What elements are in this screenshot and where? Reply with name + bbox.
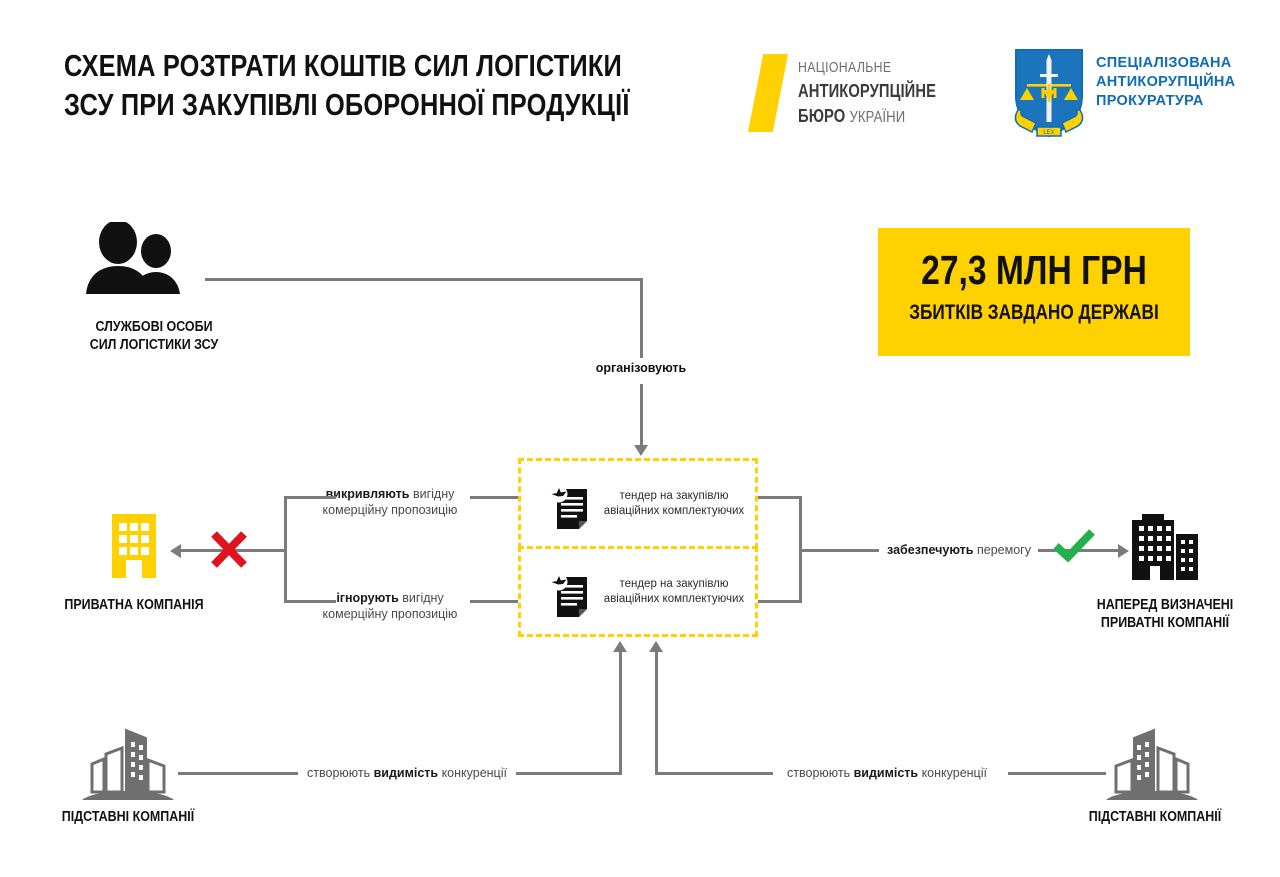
flow-label-distort-line2: комерційну пропозицію xyxy=(323,503,458,517)
building-yellow-icon xyxy=(104,510,164,578)
flow-label-ensure-win: забезпечують перемогу xyxy=(884,542,1034,558)
connector-right-riser xyxy=(655,652,658,775)
flow-label-distort-rest: вигідну xyxy=(413,487,454,501)
flow-label-distort: викривляють вигідну комерційну пропозиці… xyxy=(300,486,480,518)
fake-left-pre: створюють xyxy=(307,766,370,780)
green-check-marker xyxy=(1052,528,1096,562)
nabu-line-3-light: УКРАЇНИ xyxy=(849,109,905,126)
page-title: СХЕМА РОЗТРАТИ КОШТІВ СИЛ ЛОГІСТИКИ ЗСУ … xyxy=(64,46,764,124)
flow-label-ignore-line2: комерційну пропозицію xyxy=(323,607,458,621)
node-label-predetermined: НАПЕРЕД ВИЗНАЧЕНІ ПРИВАТНІ КОМПАНІЇ xyxy=(1065,596,1265,632)
connector-ignore-stub xyxy=(284,600,336,603)
predetermined-label-line-1: НАПЕРЕД ВИЗНАЧЕНІ xyxy=(1079,596,1251,614)
arrowhead-to-private-company xyxy=(170,544,181,558)
sap-line-3: ПРОКУРАТУРА xyxy=(1096,92,1235,111)
damage-amount: 27,3 МЛН ГРН xyxy=(906,248,1162,293)
nabu-line-1: НАЦІОНАЛЬНЕ xyxy=(798,56,936,79)
connector-bracket-to-win-label xyxy=(799,549,879,552)
node-label-private-company: ПРИВАТНА КОМПАНІЯ xyxy=(34,596,234,614)
sap-motto: LEX xyxy=(1043,130,1054,136)
flow-label-ignore-rest: вигідну xyxy=(402,591,443,605)
two-persons-icon xyxy=(84,222,194,294)
sap-line-1: СПЕЦІАЛІЗОВАНА xyxy=(1096,54,1235,73)
flow-label-ignore: ігнорують вигідну комерційну пропозицію xyxy=(300,590,480,622)
connector-front-left-stub xyxy=(178,772,298,775)
damage-caption: ЗБИТКІВ ЗАВДАНО ДЕРЖАВІ xyxy=(906,300,1162,326)
flow-label-fake-competition-left: створюють видимість конкуренції xyxy=(302,765,512,781)
tender-box-2[interactable]: тендер на закупівлю авіаційних комплекту… xyxy=(518,546,758,637)
arrowhead-left-into-tenders xyxy=(613,641,627,652)
nabu-slash-icon xyxy=(748,54,788,132)
arrowhead-right-into-tenders xyxy=(649,641,663,652)
infographic-canvas: СХЕМА РОЗТРАТИ КОШТІВ СИЛ ЛОГІСТИКИ ЗСУ … xyxy=(0,0,1280,877)
node-label-officials: СЛУЖБОВІ ОСОБИ СИЛ ЛОГІСТИКИ ЗСУ xyxy=(54,318,254,354)
node-label-front-left: ПІДСТАВНІ КОМПАНІЇ xyxy=(28,808,228,826)
nabu-line-2: АНТИКОРУПЦІЙНЕ xyxy=(798,79,936,104)
connector-front-right-stub xyxy=(1008,772,1106,775)
front-left-label: ПІДСТАВНІ КОМПАНІЇ xyxy=(42,808,214,826)
tender-2-line-2: авіаційних комплектуючих xyxy=(604,593,744,605)
title-line-2: ЗСУ ПРИ ЗАКУПІВЛІ ОБОРОННОЇ ПРОДУКЦІЇ xyxy=(64,85,638,124)
nabu-line-3-bold: БЮРО xyxy=(798,106,845,126)
flow-label-fake-competition-right: створюють видимість конкуренції xyxy=(782,765,992,781)
flow-label-ensure-win-rest: перемогу xyxy=(977,543,1031,557)
red-x-marker xyxy=(208,531,250,569)
arrowhead-into-tenders xyxy=(634,445,648,456)
fake-left-post: конкуренції xyxy=(442,766,507,780)
officials-label-line-1: СЛУЖБОВІ ОСОБИ xyxy=(68,318,240,336)
flow-label-ensure-win-bold: забезпечують xyxy=(887,543,973,557)
front-right-label: ПІДСТАВНІ КОМПАНІЇ xyxy=(1069,808,1241,826)
predetermined-label-line-2: ПРИВАТНІ КОМПАНІЇ xyxy=(1079,614,1251,632)
tender-1-line-1: тендер на закупівлю xyxy=(619,490,728,502)
fake-right-bold: видимість xyxy=(854,766,918,780)
tenders-group: тендер на закупівлю авіаційних комплекту… xyxy=(518,458,758,640)
node-label-front-right: ПІДСТАВНІ КОМПАНІЇ xyxy=(1055,808,1255,826)
sap-logo: LEX СПЕЦІАЛІЗОВАНА АНТИКОРУПЦІЙНА ПРОКУР… xyxy=(1010,44,1240,144)
tender-2-title: тендер на закупівлю авіаційних комплекту… xyxy=(599,577,749,607)
connector-officials-to-organize xyxy=(205,278,643,281)
connector-organize-down-b xyxy=(640,384,643,446)
flow-label-organize: організовують xyxy=(556,360,726,376)
fake-left-bold: видимість xyxy=(374,766,438,780)
tender-document-icon xyxy=(549,485,591,529)
connector-tender2-right-stub xyxy=(758,600,802,603)
tender-2-line-1: тендер на закупівлю xyxy=(619,578,728,590)
skyline-gray-icon xyxy=(82,726,174,800)
flow-label-ignore-bold: ігнорують xyxy=(336,591,398,605)
skyline-gray-icon xyxy=(1106,726,1198,800)
tender-1-line-2: авіаційних комплектуючих xyxy=(604,505,744,517)
connector-right-to-riser xyxy=(655,772,773,775)
buildings-black-icon xyxy=(1128,508,1202,580)
damage-stat-box: 27,3 МЛН ГРН ЗБИТКІВ ЗАВДАНО ДЕРЖАВІ xyxy=(878,228,1190,356)
fake-right-pre: створюють xyxy=(787,766,850,780)
private-company-label: ПРИВАТНА КОМПАНІЯ xyxy=(48,596,220,614)
tender-box-1[interactable]: тендер на закупівлю авіаційних комплекту… xyxy=(518,458,758,549)
nabu-line-3: БЮРО УКРАЇНИ xyxy=(798,104,936,130)
flow-label-distort-bold: викривляють xyxy=(326,487,410,501)
nabu-logo: НАЦІОНАЛЬНЕ АНТИКОРУПЦІЙНЕ БЮРО УКРАЇНИ xyxy=(748,50,948,140)
title-line-1: СХЕМА РОЗТРАТИ КОШТІВ СИЛ ЛОГІСТИКИ xyxy=(64,46,638,85)
tender-1-title: тендер на закупівлю авіаційних комплекту… xyxy=(599,489,749,519)
sap-line-2: АНТИКОРУПЦІЙНА xyxy=(1096,73,1235,92)
connector-left-riser xyxy=(619,652,622,775)
sap-shield-emblem-icon: LEX xyxy=(1010,44,1088,140)
connector-distort-stub xyxy=(284,496,336,499)
connector-organize-down-a xyxy=(640,278,643,358)
officials-label-line-2: СИЛ ЛОГІСТИКИ ЗСУ xyxy=(68,336,240,354)
fake-right-post: конкуренції xyxy=(922,766,987,780)
connector-tender1-right-stub xyxy=(758,496,802,499)
connector-left-to-riser xyxy=(516,772,622,775)
tender-document-icon xyxy=(549,573,591,617)
